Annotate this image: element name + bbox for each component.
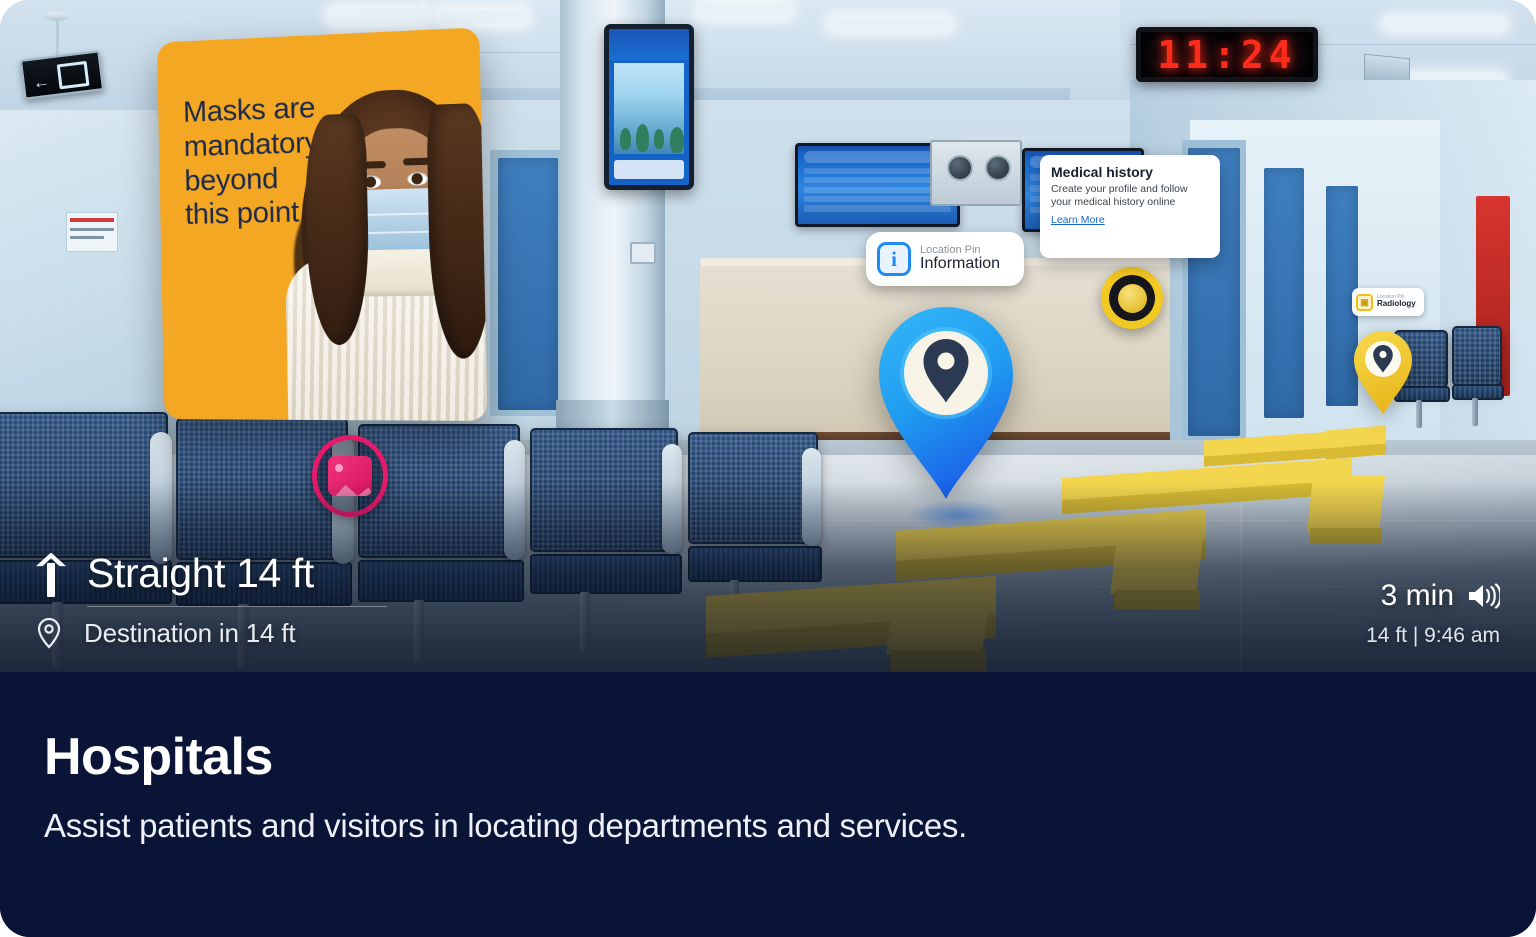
- nav-primary-instruction: Straight 14 ft: [32, 550, 387, 597]
- nav-directions: Straight 14 ft Destination in 14 ft: [32, 550, 387, 650]
- page-description: Assist patients and visitors in locating…: [44, 807, 1492, 845]
- learn-more-link[interactable]: Learn More: [1051, 214, 1105, 226]
- marker-chip-radiology[interactable]: ▣ Location Pin Radiology: [1352, 288, 1424, 316]
- info-chip-label: Information: [920, 256, 1000, 273]
- nav-eta-text: 3 min: [1381, 579, 1454, 613]
- ar-overlay: Masks are mandatory beyond this point: [0, 0, 1536, 672]
- map-pin-icon[interactable]: [874, 305, 1018, 501]
- marker-chip-information[interactable]: i Location Pin Information: [866, 232, 1024, 286]
- nav-meta-text: 14 ft | 9:46 am: [1366, 624, 1500, 648]
- target-ring-icon[interactable]: [1101, 267, 1163, 329]
- nav-divider: [87, 606, 387, 607]
- nav-eta-block: 3 min 14 ft | 9:46 am: [1366, 579, 1500, 648]
- ring-core: [1118, 284, 1147, 313]
- medical-history-body: Create your profile and follow your medi…: [1051, 183, 1209, 210]
- location-pin-icon: [32, 616, 66, 650]
- arrow-up-icon: [32, 551, 70, 597]
- nav-eta-row: 3 min: [1366, 579, 1500, 613]
- speaker-on-icon[interactable]: [1466, 582, 1500, 610]
- description-panel: Hospitals Assist patients and visitors i…: [0, 672, 1536, 937]
- nav-destination-text: Destination in 14 ft: [84, 618, 295, 649]
- thumbnail-graphic: [328, 456, 372, 496]
- information-icon: i: [877, 242, 911, 276]
- medical-history-title: Medical history: [1051, 164, 1209, 180]
- nav-destination-row: Destination in 14 ft: [32, 616, 387, 650]
- nav-direction-text: Straight 14 ft: [87, 550, 314, 597]
- radiology-chip-label: Radiology: [1377, 300, 1416, 309]
- image-thumbnail-icon[interactable]: [312, 435, 388, 517]
- map-pin-icon[interactable]: [1352, 330, 1414, 416]
- info-chip-text: Location Pin Information: [920, 245, 1000, 273]
- hospital-wayfinding-card: ← 11:24: [0, 0, 1536, 937]
- radiology-chip-text: Location Pin Radiology: [1377, 295, 1416, 309]
- pin-floor-glow: [908, 500, 1008, 530]
- radiology-icon: ▣: [1356, 294, 1373, 311]
- ring-inner: [1109, 275, 1155, 321]
- page-title: Hospitals: [44, 730, 1492, 785]
- medical-history-card[interactable]: Medical history Create your profile and …: [1040, 155, 1220, 258]
- mask-mandatory-sign: Masks are mandatory beyond this point: [157, 27, 488, 421]
